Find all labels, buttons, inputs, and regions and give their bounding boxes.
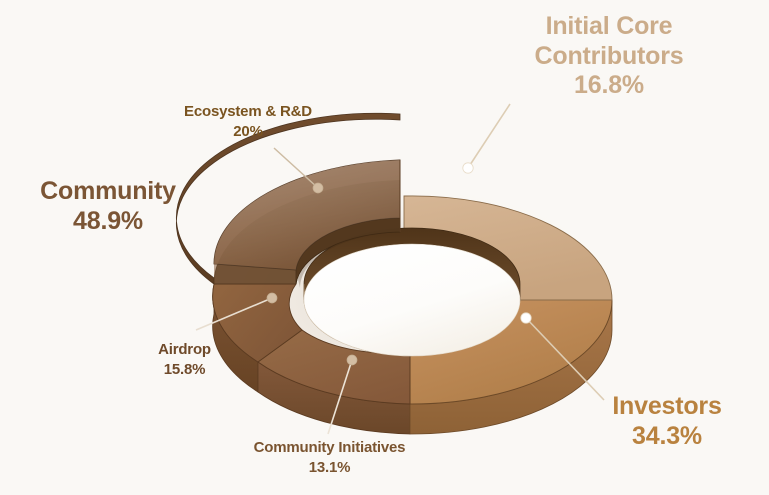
slice-label-name: Investors — [572, 391, 762, 421]
donut-chart-container: Initial Core Contributors 16.8% Communit… — [0, 0, 769, 495]
slice-label-name: Initial Core — [494, 12, 724, 42]
group-label-value: 48.9% — [8, 206, 208, 236]
donut-hole — [304, 244, 520, 356]
leader-dot-ecosystem-rd — [313, 183, 323, 193]
group-label-community: Community 48.9% — [8, 176, 208, 236]
slice-label-investors: Investors 34.3% — [572, 391, 762, 451]
slice-label-ecosystem-rd: Ecosystem & R&D 20% — [158, 102, 338, 143]
leader-dot-community-initiatives — [347, 355, 357, 365]
slice-label-name-cont: Contributors — [494, 42, 724, 72]
leader-dot-investors — [521, 313, 531, 323]
slice-label-value: 20% — [158, 122, 338, 142]
slice-label-airdrop: Airdrop 15.8% — [122, 340, 247, 381]
slice-label-value: 34.3% — [572, 421, 762, 451]
leader-dot-initial-core-contributors — [463, 163, 473, 173]
slice-label-value: 15.8% — [122, 360, 247, 380]
leader-dot-airdrop — [267, 293, 277, 303]
slice-label-value: 16.8% — [494, 71, 724, 101]
leader-line-initial-core-contributors — [468, 104, 510, 168]
slice-label-name: Community Initiatives — [222, 438, 437, 458]
slice-label-value: 13.1% — [222, 458, 437, 478]
slice-label-initial-core-contributors: Initial Core Contributors 16.8% — [494, 12, 724, 101]
slice-label-community-initiatives: Community Initiatives 13.1% — [222, 438, 437, 479]
group-label-name: Community — [8, 176, 208, 206]
slice-label-name: Ecosystem & R&D — [158, 102, 338, 122]
slice-label-name: Airdrop — [122, 340, 247, 360]
